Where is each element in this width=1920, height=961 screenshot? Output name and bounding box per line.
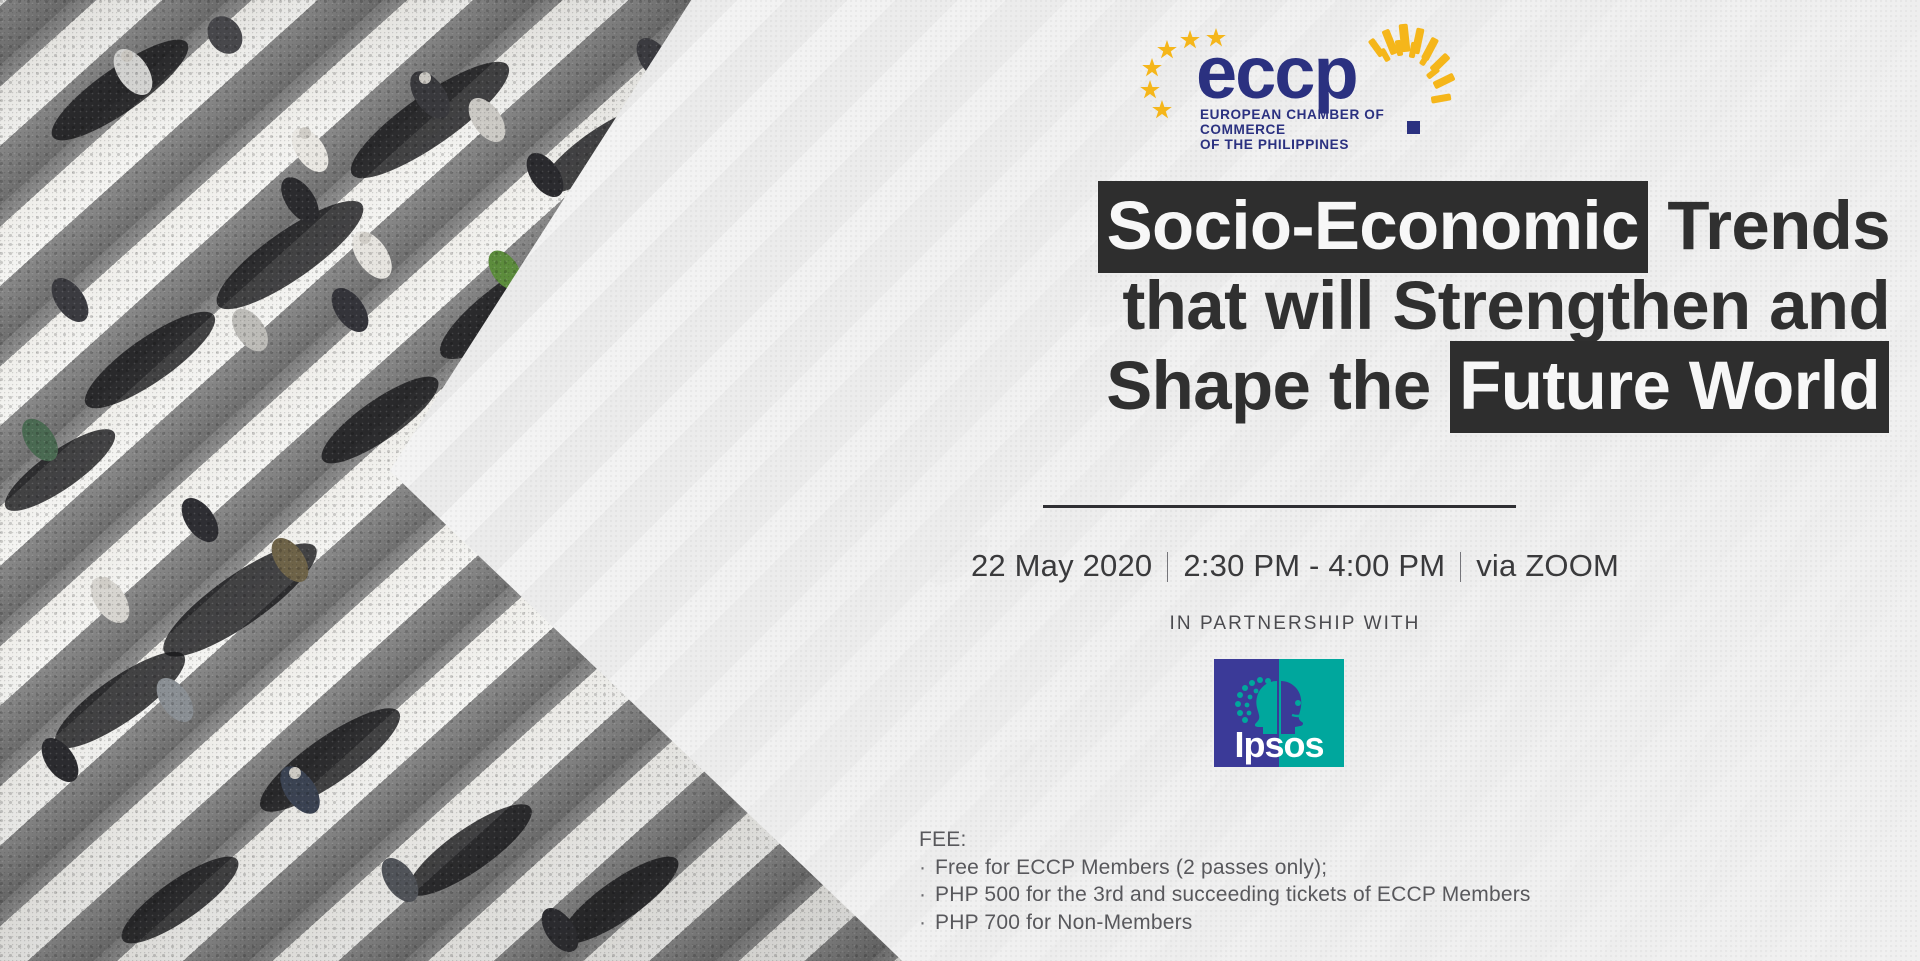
page-title: Socio-Economic Trends that will Strength… <box>700 186 1890 426</box>
title-line-2: that will Strengthen and <box>700 266 1890 346</box>
title-line-1: Socio-Economic Trends <box>700 186 1890 266</box>
fee-item-3: ·PHP 700 for Non-Members <box>919 909 1531 937</box>
fee-bullet-3: · <box>919 909 935 937</box>
fee-bullet-2: · <box>919 881 935 909</box>
event-details: 22 May 20202:30 PM - 4:00 PMvia ZOOM <box>700 548 1890 584</box>
event-date: 22 May 2020 <box>971 548 1152 583</box>
eccp-subtitle-line2: OF THE PHILIPPINES <box>1200 137 1349 152</box>
fee-bullet-1: · <box>919 854 935 882</box>
title-line-1-rest: Trends <box>1649 187 1890 264</box>
eccp-logo-square <box>1407 121 1420 134</box>
fee-item-2-text: PHP 500 for the 3rd and succeeding ticke… <box>935 883 1531 906</box>
fee-block: FEE: ·Free for ECCP Members (2 passes on… <box>919 826 1531 936</box>
event-time: 2:30 PM - 4:00 PM <box>1183 548 1445 583</box>
title-divider <box>1043 505 1516 508</box>
title-highlight-socio-economic: Socio-Economic <box>1098 181 1648 273</box>
eccp-subtitle-line1: EUROPEAN CHAMBER OF COMMERCE <box>1200 107 1384 137</box>
fee-heading: FEE: <box>919 826 1531 854</box>
fee-item-3-text: PHP 700 for Non-Members <box>935 911 1192 934</box>
title-line-3: Shape the Future World <box>700 346 1890 426</box>
fee-item-1: ·Free for ECCP Members (2 passes only); <box>919 854 1531 882</box>
fee-item-2: ·PHP 500 for the 3rd and succeeding tick… <box>919 881 1531 909</box>
ipsos-logo: Ipsos <box>1214 659 1344 767</box>
meta-separator-1 <box>1167 552 1168 582</box>
title-line-3-rest: Shape the <box>1106 347 1449 424</box>
ipsos-wordmark: Ipsos <box>1234 724 1323 765</box>
partnership-label: IN PARTNERSHIP WITH <box>700 613 1890 635</box>
eccp-logo: eccp EUROPEAN CHAMBER OF COMMERCE OF THE… <box>1138 22 1458 140</box>
meta-separator-2 <box>1460 552 1461 582</box>
svg-text:eccp: eccp <box>1196 36 1357 114</box>
event-platform: via ZOOM <box>1476 548 1619 583</box>
event-banner: eccp EUROPEAN CHAMBER OF COMMERCE OF THE… <box>0 0 1920 961</box>
title-highlight-future-world: Future World <box>1450 341 1889 433</box>
fee-item-1-text: Free for ECCP Members (2 passes only); <box>935 856 1327 879</box>
